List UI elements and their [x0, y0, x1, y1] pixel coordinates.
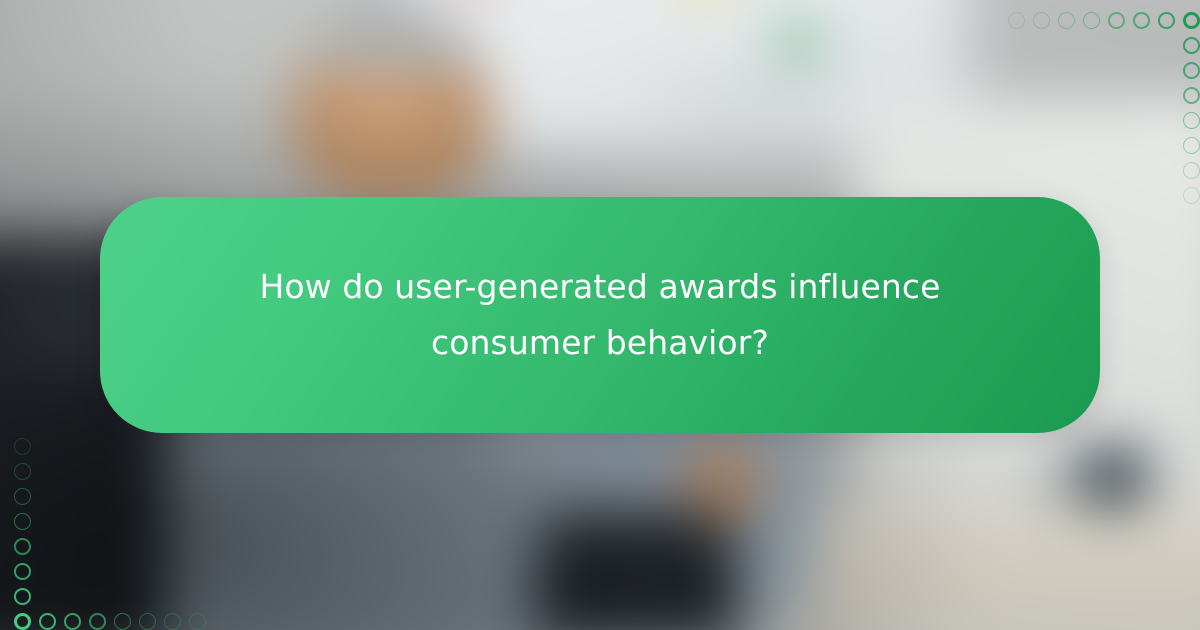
decorative-circle [64, 613, 81, 630]
decorative-circle [139, 613, 156, 630]
decorative-circle [1083, 12, 1100, 29]
decorative-circle [14, 588, 31, 605]
decorative-circle [1183, 37, 1200, 54]
decorative-circle [14, 438, 31, 455]
decorative-circle [39, 613, 56, 630]
decorative-circle [1183, 62, 1200, 79]
decorative-circle [1183, 187, 1200, 204]
decorative-circle [1183, 12, 1200, 29]
decorative-circle [14, 463, 31, 480]
question-card: How do user-generated awards influence c… [100, 197, 1100, 433]
decorative-circle [1183, 87, 1200, 104]
decorative-circle [1058, 12, 1075, 29]
decorative-circle [14, 513, 31, 530]
decorative-circle [14, 488, 31, 505]
decorative-circle [14, 563, 31, 580]
decorative-circle [89, 613, 106, 630]
decorative-circle [14, 613, 31, 630]
decorative-circle [114, 613, 131, 630]
decorative-circle [189, 613, 206, 630]
social-card-canvas: How do user-generated awards influence c… [0, 0, 1200, 630]
decorative-circle [1183, 112, 1200, 129]
question-text: How do user-generated awards influence c… [190, 259, 1010, 371]
decorative-circle [14, 538, 31, 555]
decorative-circle [1158, 12, 1175, 29]
decorative-circle [1183, 137, 1200, 154]
decorative-circle [1033, 12, 1050, 29]
decorative-circle [164, 613, 181, 630]
decorative-circle [1183, 162, 1200, 179]
decorative-circle [1008, 12, 1025, 29]
decorative-circle [1133, 12, 1150, 29]
decorative-circle [1108, 12, 1125, 29]
